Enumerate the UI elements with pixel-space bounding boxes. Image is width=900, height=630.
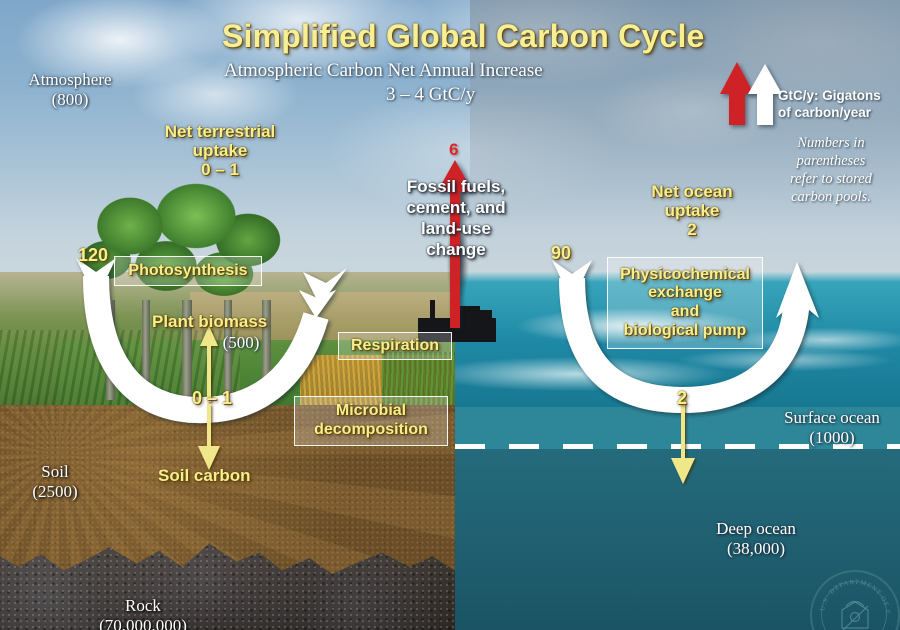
fossil-fuel-flux-value: 6 (449, 140, 458, 159)
atmosphere-pool-label: Atmosphere (10, 70, 130, 89)
rock-pool-value: (70,000,000) (78, 616, 208, 630)
doe-seal-watermark: U.S. DEPARTMENT OF ENERGY (810, 570, 900, 630)
net-terrestrial-uptake-value: 0 – 1 (130, 160, 310, 179)
ocean-downwelling-flux-value: 2 (677, 388, 687, 409)
photosynthesis-flux-value: 120 (78, 245, 108, 266)
net-ocean-uptake-value: 2 (602, 220, 782, 239)
ocean-pump-line-2: exchange (648, 284, 722, 303)
ocean-pump-line-1: Physicochemical (620, 266, 750, 285)
deep-ocean-value: (38,000) (686, 539, 826, 558)
rock-pool-label: Rock (98, 596, 188, 615)
respiration-box[interactable]: Respiration (338, 332, 452, 360)
ocean-exchange-flux-value: 90 (551, 243, 571, 264)
legend-note-line-1: Numbers in (772, 135, 890, 153)
fossil-fuels-line-1: Fossil fuels, (390, 177, 522, 196)
plant-biomass-label: Plant biomass (152, 312, 267, 331)
legend-units-line-1: GtC/y: Gigatons (778, 88, 881, 105)
subtitle-line-1: Atmospheric Carbon Net Annual Increase (224, 60, 543, 82)
deep-ocean-label: Deep ocean (686, 519, 826, 538)
photosynthesis-box-label: Photosynthesis (128, 262, 247, 281)
fossil-fuels-line-4: change (390, 240, 522, 259)
fossil-fuels-line-3: land-use (390, 219, 522, 238)
net-ocean-uptake-line-2: uptake (602, 201, 782, 220)
ocean-pump-line-3: and (671, 303, 699, 322)
legend-note-line-2: parentheses (772, 153, 890, 171)
microbial-decomposition-line-1: Microbial (336, 402, 406, 421)
soil-carbon-label: Soil carbon (158, 466, 251, 485)
ocean-pump-box[interactable]: Physicochemical exchange and biological … (607, 257, 763, 349)
net-ocean-uptake-line-1: Net ocean (602, 182, 782, 201)
ocean-pump-line-4: biological pump (624, 322, 747, 341)
microbial-decomposition-line-2: decomposition (314, 421, 428, 440)
net-terrestrial-uptake-line-1: Net terrestrial (130, 122, 310, 141)
respiration-box-label: Respiration (351, 337, 439, 356)
legend-units-line-2: of carbon/year (778, 105, 871, 122)
fossil-fuels-line-2: cement, and (390, 198, 522, 217)
net-terrestrial-uptake-line-2: uptake (130, 141, 310, 160)
legend-white-up-arrow (748, 64, 782, 125)
page-title: Simplified Global Carbon Cycle (222, 18, 705, 54)
soil-carbon-flux-value: 0 – 1 (192, 388, 232, 409)
surface-ocean-value: (1000) (762, 428, 900, 447)
soil-pool-label: Soil (10, 462, 100, 481)
microbial-decomposition-box[interactable]: Microbial decomposition (294, 396, 448, 446)
subtitle-line-2: 3 – 4 GtC/y (386, 84, 475, 106)
surface-ocean-label: Surface ocean (762, 408, 900, 427)
legend-note-line-4: carbon pools. (772, 189, 890, 207)
atmosphere-pool-value: (800) (10, 90, 130, 109)
soil-pool-value: (2500) (10, 482, 100, 501)
photosynthesis-box[interactable]: Photosynthesis (114, 256, 262, 286)
plant-biomass-value: (500) (211, 333, 271, 352)
carbon-cycle-diagram: Simplified Global Carbon Cycle Atmospher… (0, 0, 900, 630)
legend-note-line-3: refer to stored (772, 171, 890, 189)
